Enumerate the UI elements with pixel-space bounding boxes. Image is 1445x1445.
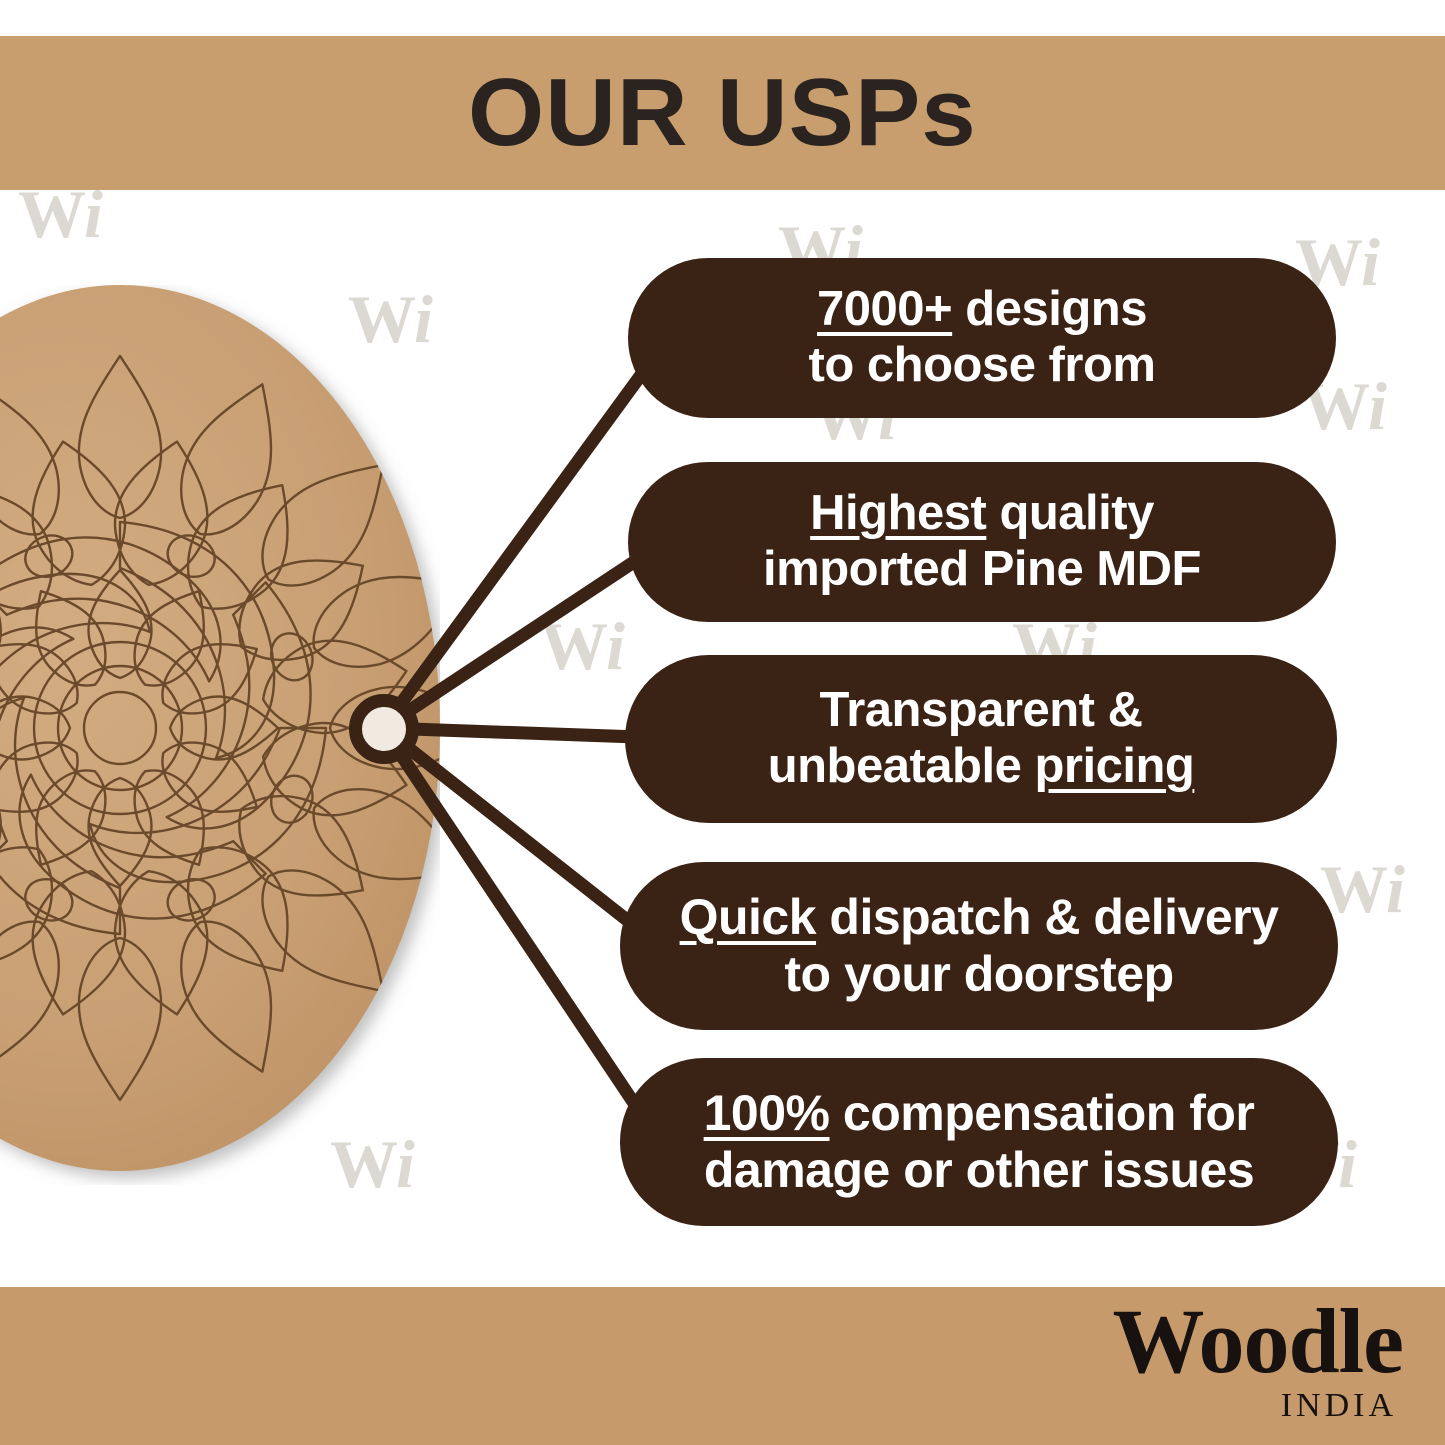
usp-line-1: Quick dispatch & delivery bbox=[680, 889, 1279, 946]
brand-logo: Woodle INDIA bbox=[983, 1295, 1403, 1423]
watermark-wi: Wi bbox=[1320, 855, 1403, 923]
hub-node bbox=[349, 694, 419, 764]
brand-name: Woodle bbox=[983, 1295, 1403, 1387]
usp-rest: unbeatable bbox=[768, 739, 1035, 793]
infographic-canvas: Wi Wi Wi Wi Wi Wi Wi Wi Wi Wi Wi Wi OUR … bbox=[0, 0, 1445, 1445]
usp-highlight: Highest bbox=[810, 486, 986, 540]
usp-pill-designs[interactable]: 7000+ designs to choose from bbox=[628, 258, 1336, 418]
usp-line-1: Highest quality bbox=[810, 486, 1154, 542]
usp-line-2: unbeatable pricing bbox=[768, 739, 1195, 795]
watermark-wi: Wi bbox=[540, 612, 623, 680]
usp-pill-dispatch[interactable]: Quick dispatch & delivery to your doorst… bbox=[620, 862, 1338, 1030]
usp-line-2: to your doorstep bbox=[784, 946, 1173, 1003]
usp-line-1: 100% compensation for bbox=[704, 1085, 1255, 1142]
usp-highlight: 100% bbox=[704, 1085, 830, 1141]
usp-rest: designs bbox=[952, 282, 1147, 336]
page-title: OUR USPs bbox=[468, 65, 977, 161]
brand-subtitle: INDIA bbox=[983, 1389, 1397, 1423]
usp-line-2: imported Pine MDF bbox=[763, 542, 1201, 598]
usp-pill-quality[interactable]: Highest quality imported Pine MDF bbox=[628, 462, 1336, 622]
watermark-wi: Wi bbox=[18, 180, 101, 248]
usp-highlight: Quick bbox=[680, 889, 816, 945]
usp-highlight: pricing bbox=[1034, 739, 1194, 793]
usp-highlight: 7000+ bbox=[817, 282, 952, 336]
usp-rest: dispatch & delivery bbox=[816, 889, 1278, 945]
usp-rest: quality bbox=[986, 486, 1154, 540]
usp-line-2: to choose from bbox=[809, 338, 1156, 394]
usp-line-1: Transparent & bbox=[820, 683, 1143, 739]
usp-line-1: 7000+ designs bbox=[817, 282, 1147, 338]
usp-pill-compensation[interactable]: 100% compensation for damage or other is… bbox=[620, 1058, 1338, 1226]
usp-line-2: damage or other issues bbox=[704, 1142, 1254, 1199]
usp-rest: compensation for bbox=[830, 1085, 1255, 1141]
usp-pill-pricing[interactable]: Transparent & unbeatable pricing bbox=[625, 655, 1337, 823]
header-band: OUR USPs bbox=[0, 36, 1445, 190]
